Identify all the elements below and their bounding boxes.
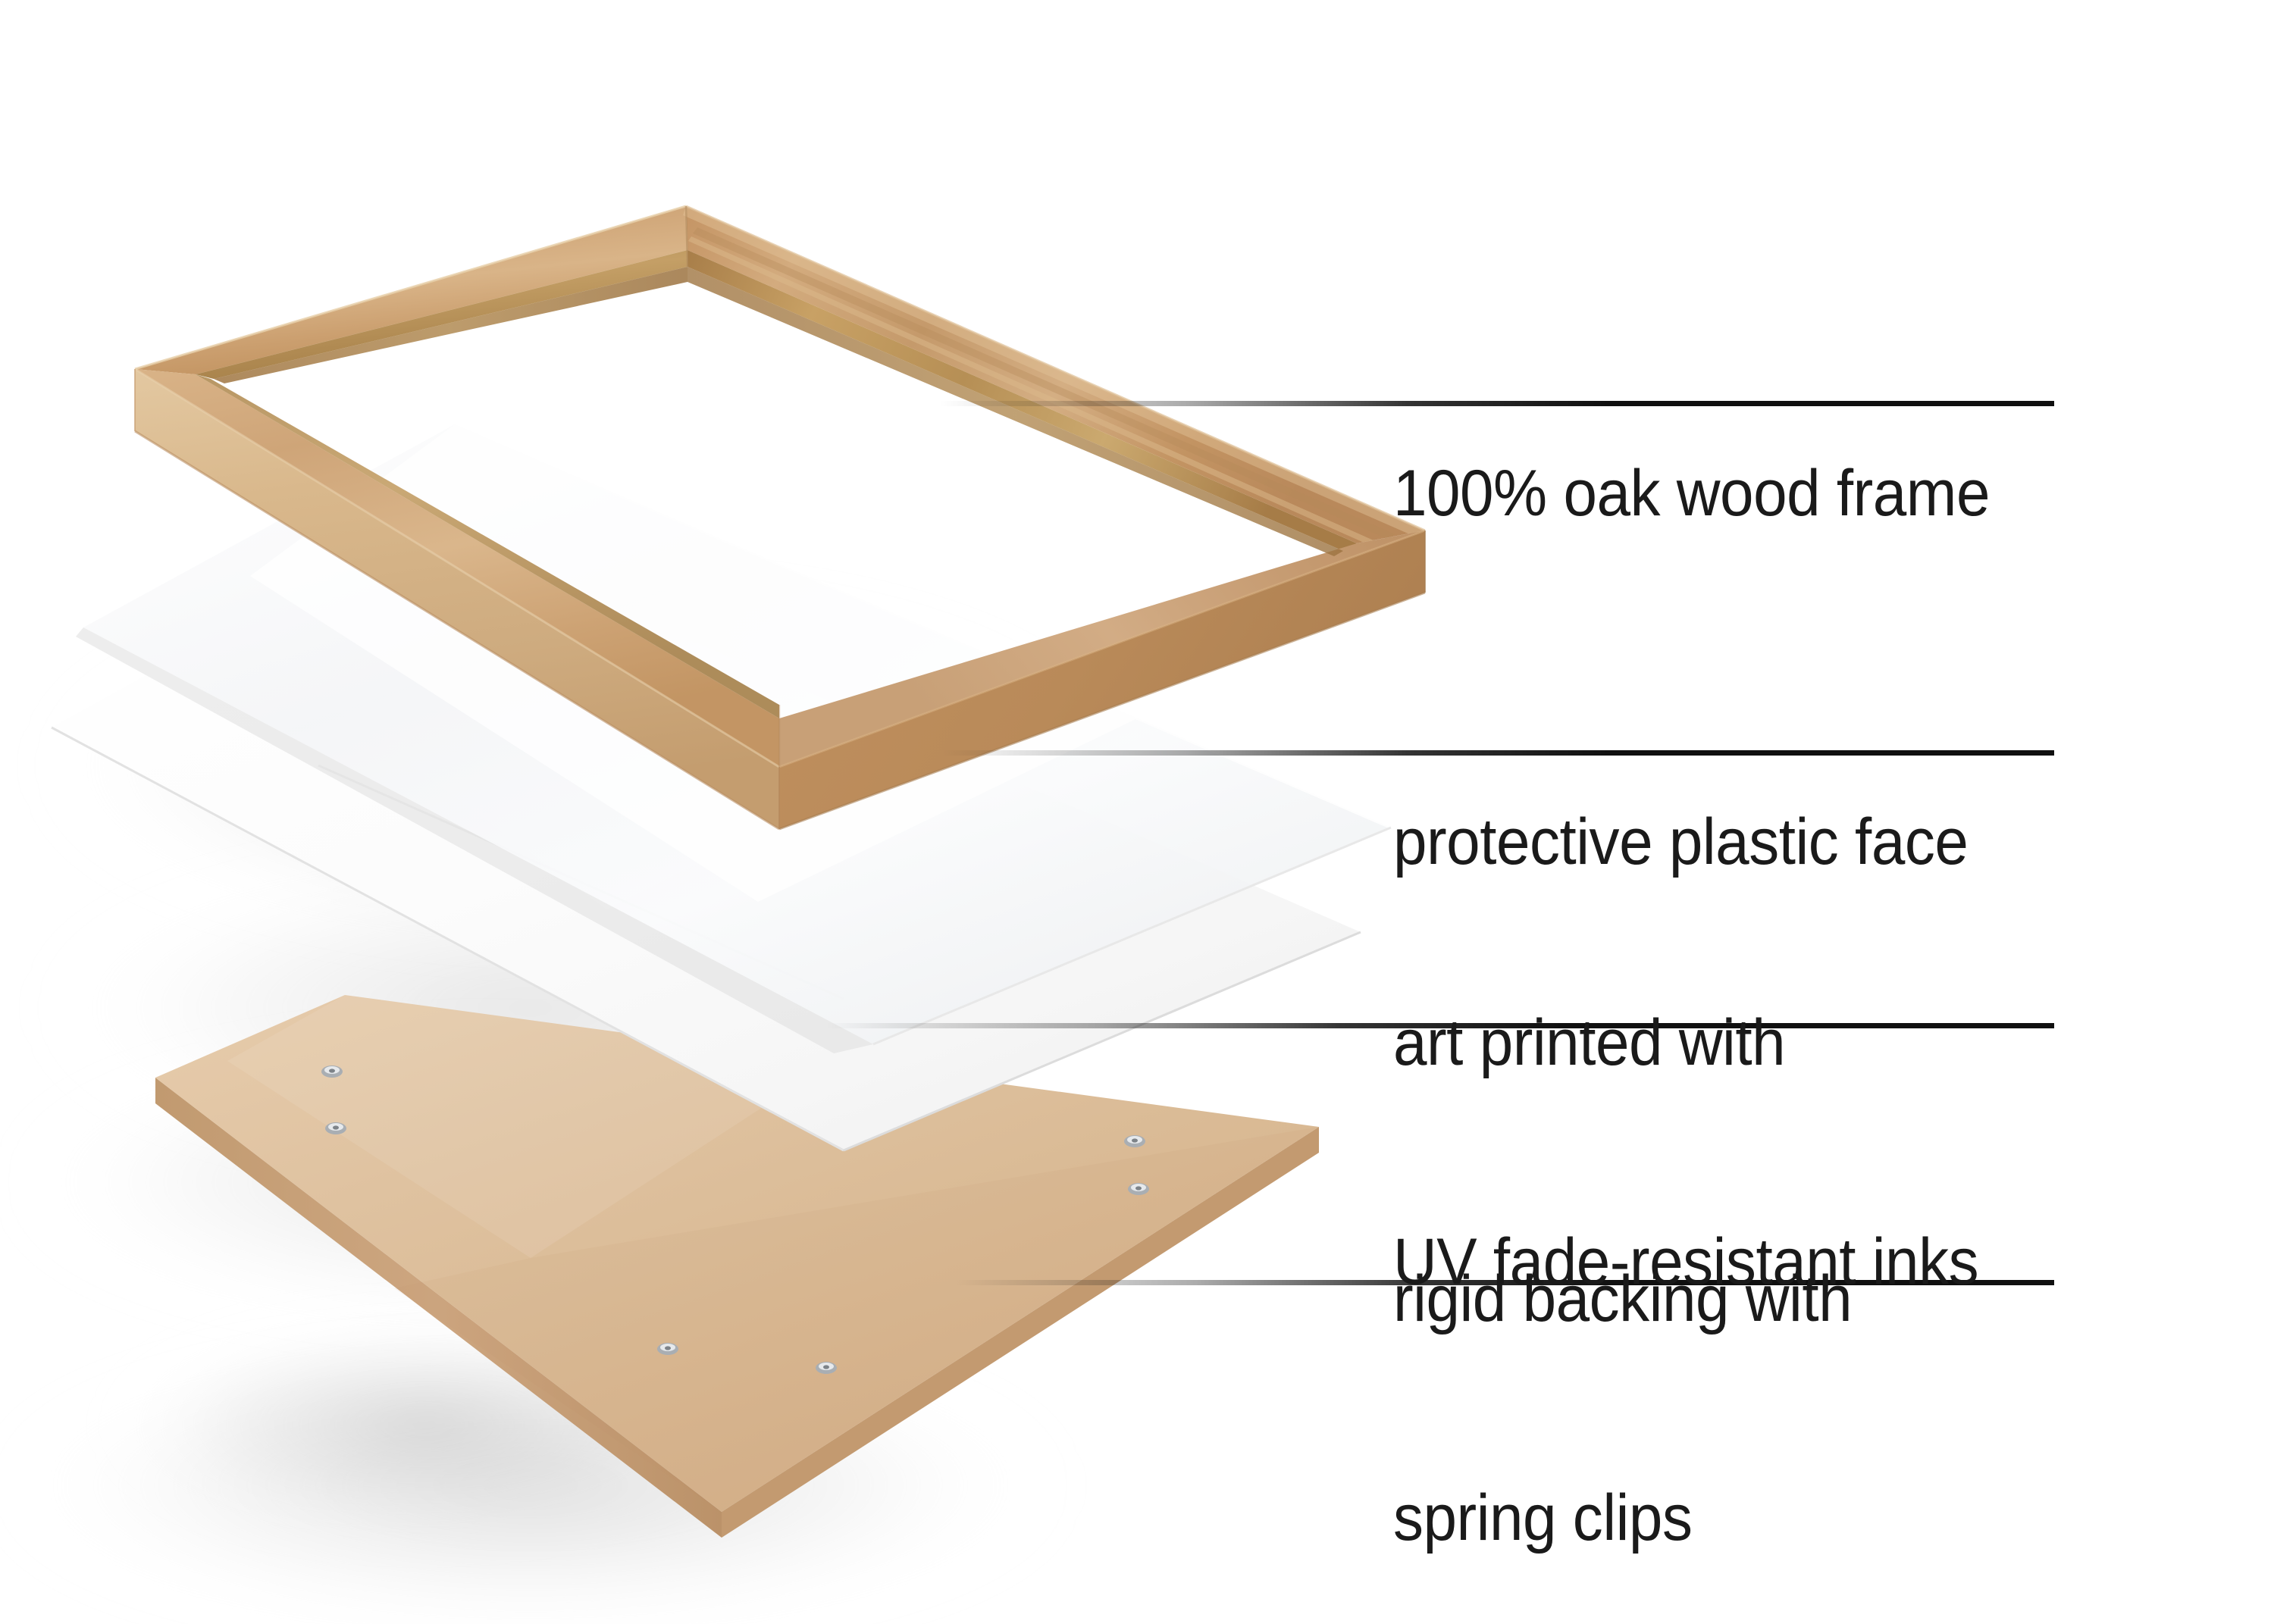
spring-clip-rivet (321, 1065, 343, 1078)
spring-clip-rivet (657, 1343, 678, 1355)
frame-bar-upper-left-rabbet (196, 250, 688, 379)
frame-grain-stripe (688, 236, 1373, 545)
spring-clip-rivet (1124, 1135, 1145, 1147)
spring-clip-rivet (1128, 1183, 1149, 1195)
callout-label-frame: 100% oak wood frame (1393, 311, 1990, 676)
frame-edge-top-right-outer (686, 206, 1425, 530)
frame-inner-wall-upper-right (688, 267, 1343, 556)
spring-clip-rivet (325, 1122, 346, 1134)
callout-print-line1: art printed with (1393, 1006, 1978, 1079)
frame-bar-upper-right-rabbet (688, 250, 1357, 551)
exploded-frame-diagram: 100% oak wood frame protective plastic f… (0, 0, 2274, 1624)
frame-grain-stripe (683, 206, 1425, 535)
callout-backing-line1: rigid backing with (1393, 1263, 1852, 1335)
callout-backing-line2: spring clips (1393, 1482, 1852, 1554)
callout-label-backing: rigid backing with spring clips (1393, 1116, 1852, 1624)
spring-clip-rivet (816, 1362, 837, 1374)
frame-grain-stripe (693, 227, 1395, 540)
callout-frame-line1: 100% oak wood frame (1393, 457, 1990, 530)
